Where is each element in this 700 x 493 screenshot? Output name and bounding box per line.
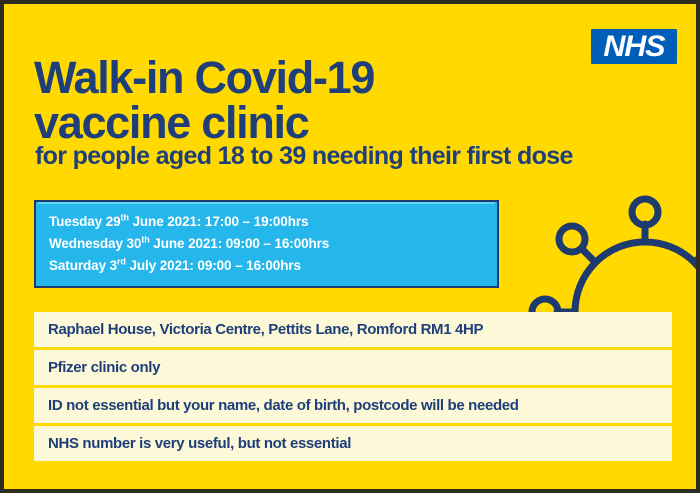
clinic-info-list: Raphael House, Victoria Centre, Pettits …: [34, 312, 672, 464]
clinic-date-prefix: Wednesday 30: [49, 236, 141, 251]
page-title: Walk-in Covid-19 vaccine clinic: [34, 56, 504, 145]
nhs-logo-text: NHS: [604, 32, 665, 62]
clinic-id-requirements-text: ID not essential but your name, date of …: [48, 398, 519, 413]
clinic-dates-list: Tuesday 29th June 2021: 17:00 – 19:00hrs…: [36, 202, 497, 277]
headline-line-2: vaccine clinic: [34, 101, 504, 146]
nhs-logo: NHS: [591, 29, 677, 64]
list-item: NHS number is very useful, but not essen…: [34, 426, 672, 461]
clinic-dates-panel: Tuesday 29th June 2021: 17:00 – 19:00hrs…: [34, 200, 499, 288]
clinic-date-suffix: July 2021: 09:00 – 16:00hrs: [126, 258, 301, 273]
page-subtitle: for people aged 18 to 39 needing their f…: [35, 144, 573, 169]
clinic-nhs-number-text: NHS number is very useful, but not essen…: [48, 436, 351, 451]
clinic-date-suffix: June 2021: 09:00 – 16:00hrs: [150, 236, 330, 251]
list-item: Pfizer clinic only: [34, 350, 672, 385]
clinic-vaccine-text: Pfizer clinic only: [48, 360, 160, 375]
clinic-date-item: Tuesday 29th June 2021: 17:00 – 19:00hrs: [49, 211, 497, 233]
vaccine-clinic-poster: NHS Walk-in Covid-19 vaccine clinic for …: [0, 0, 700, 493]
clinic-date-suffix: June 2021: 17:00 – 19:00hrs: [129, 214, 309, 229]
list-item: Raphael House, Victoria Centre, Pettits …: [34, 312, 672, 347]
clinic-date-prefix: Tuesday 29: [49, 214, 121, 229]
clinic-date-item: Saturday 3rd July 2021: 09:00 – 16:00hrs: [49, 255, 497, 277]
list-item: ID not essential but your name, date of …: [34, 388, 672, 423]
clinic-date-ordinal: rd: [117, 257, 126, 267]
clinic-date-item: Wednesday 30th June 2021: 09:00 – 16:00h…: [49, 233, 497, 255]
clinic-date-prefix: Saturday 3: [49, 258, 117, 273]
headline-line-1: Walk-in Covid-19: [34, 56, 504, 101]
clinic-address-text: Raphael House, Victoria Centre, Pettits …: [48, 322, 483, 337]
clinic-date-ordinal: th: [141, 235, 149, 245]
clinic-date-ordinal: th: [121, 213, 129, 223]
